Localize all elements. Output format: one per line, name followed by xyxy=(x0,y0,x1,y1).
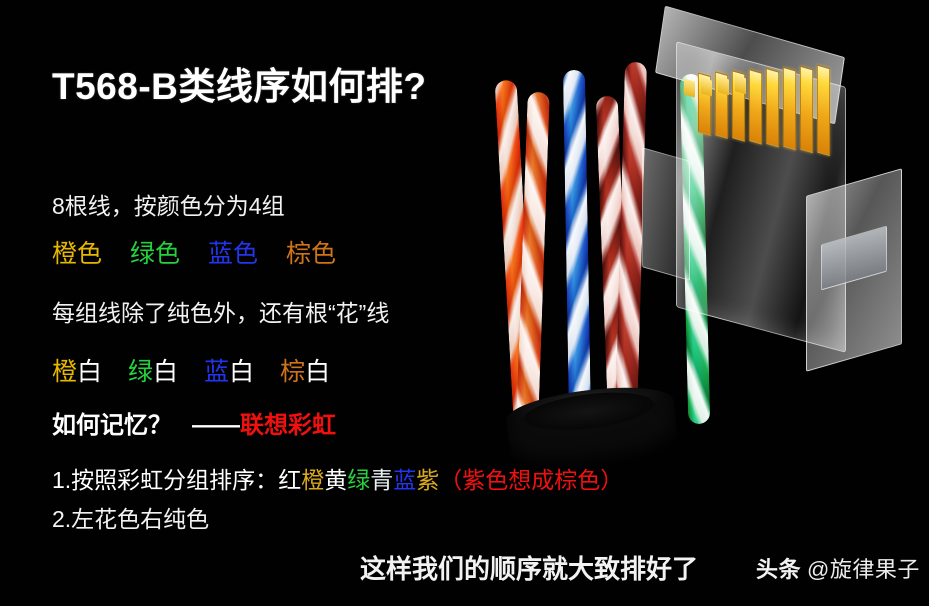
rj45-plug xyxy=(646,24,916,414)
rj45-pin-7 xyxy=(800,66,813,154)
rj45-latch xyxy=(642,147,690,281)
group-color-green: 绿色 xyxy=(130,234,180,270)
rainbow-char-red: 红 xyxy=(278,461,301,495)
watermark: 头条@旋律果子 xyxy=(756,552,920,584)
stripe-brown: 棕 xyxy=(280,352,305,388)
memory-answer: 联想彩虹 xyxy=(240,405,336,440)
rainbow-char-yellow: 黄 xyxy=(324,461,347,495)
stripe-green-white: 白 xyxy=(153,352,178,388)
rj45-pin-tail-4 xyxy=(735,75,746,94)
rj45-pin-8 xyxy=(817,65,830,157)
memory-line: 如何记忆？——联想彩虹 xyxy=(52,405,336,440)
rainbow-char-green: 绿 xyxy=(347,461,370,495)
stripe-color-row: 橙白绿白蓝白棕白 xyxy=(52,352,330,388)
watermark-platform: 头条 xyxy=(756,557,801,582)
cable-jacket-opening xyxy=(522,386,655,436)
list-item-2: 2.左花色右纯色 xyxy=(52,500,209,534)
stripe-blue-white: 白 xyxy=(229,352,254,388)
rj45-pin-tail-2 xyxy=(701,77,712,96)
wire-blue-pair xyxy=(563,70,591,422)
cable-photo xyxy=(470,18,929,448)
stripe-orange-white: 白 xyxy=(77,352,102,388)
group-color-row: 橙色绿色蓝色棕色 xyxy=(52,234,336,270)
page-title: T568-B类线序如何排? xyxy=(52,56,426,110)
rainbow-char-cyan: 青 xyxy=(370,461,393,495)
memory-dash: —— xyxy=(192,412,240,440)
stripe-green: 绿 xyxy=(128,352,153,388)
text-groups: 8根线，按颜色分为4组 xyxy=(52,187,285,221)
group-color-brown: 棕色 xyxy=(286,234,336,270)
text-stripe: 每组线除了纯色外，还有根“花”线 xyxy=(52,294,389,328)
memory-question: 如何记忆？ xyxy=(52,405,172,440)
rj45-pin-5 xyxy=(766,68,779,148)
rainbow-char-orange: 橙 xyxy=(301,461,324,495)
rj45-pin-tail-1 xyxy=(684,78,695,97)
group-color-blue: 蓝色 xyxy=(208,234,258,270)
stripe-blue: 蓝 xyxy=(204,352,229,388)
group-color-orange: 橙色 xyxy=(52,234,102,270)
stripe-orange: 橙 xyxy=(52,352,77,388)
rj45-pin-4 xyxy=(749,69,762,145)
slide-canvas: T568-B类线序如何排? 8根线，按颜色分为4组 橙色绿色蓝色棕色 每组线除了… xyxy=(0,0,929,606)
wire-orange-white xyxy=(516,92,550,425)
list-item-1-prefix: 1.按照彩虹分组排序： xyxy=(52,461,278,495)
rj45-front-window xyxy=(821,226,887,291)
rainbow-char-blue: 蓝 xyxy=(393,461,416,495)
rj45-pin-6 xyxy=(783,67,796,151)
list-item-1: 1.按照彩虹分组排序：红橙黄绿青蓝紫（紫色想成棕色） xyxy=(52,461,623,495)
rainbow-char-purple: 紫 xyxy=(416,461,439,495)
bottom-caption: 这样我们的顺序就大致排好了 xyxy=(360,549,698,586)
list-item-1-note: （紫色想成棕色） xyxy=(439,461,623,495)
rj45-front-housing xyxy=(806,168,902,372)
stripe-brown-white: 白 xyxy=(305,352,330,388)
rj45-pin-tail-3 xyxy=(718,76,729,95)
watermark-handle: @旋律果子 xyxy=(807,557,920,582)
